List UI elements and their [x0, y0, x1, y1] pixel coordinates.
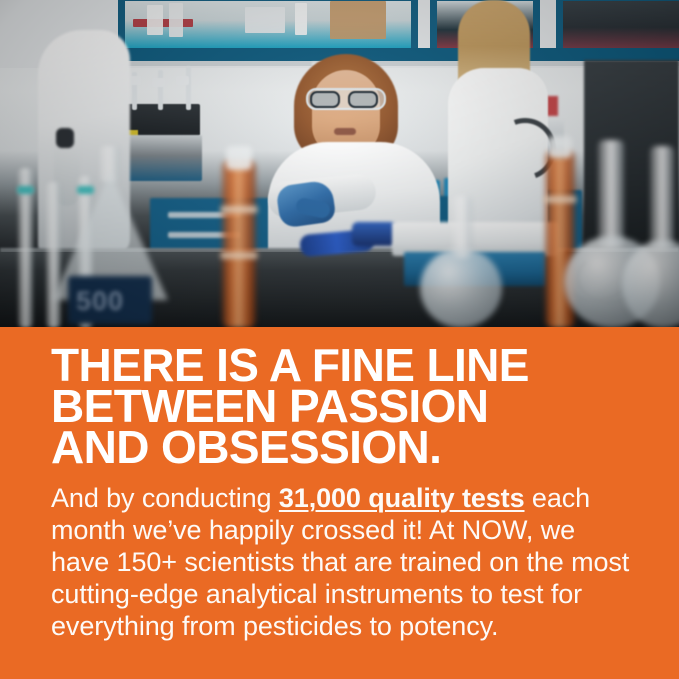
- center-scientist-mouth: [334, 128, 356, 135]
- shelf-item: [133, 19, 193, 27]
- quality-tests-stat: 31,000 quality tests: [279, 483, 525, 513]
- body-copy: And by conducting 31,000 quality tests e…: [51, 482, 637, 642]
- shelf-bottle: [147, 5, 163, 35]
- page-title: THERE IS A FINE LINE BETWEEN PASSION AND…: [51, 345, 641, 468]
- pipette-band: [17, 186, 34, 194]
- shelf-bottle: [169, 3, 183, 37]
- left-scientist-hand: [56, 128, 74, 148]
- test-tube: [186, 66, 191, 110]
- volumetric-flask-neck: [598, 140, 624, 248]
- goggle-lens-left: [310, 91, 340, 108]
- tube-cap: [152, 78, 165, 87]
- cabinet-glass: [125, 1, 411, 49]
- shelf-box: [330, 1, 386, 39]
- flask-volume-text: 500: [76, 288, 140, 314]
- promo-card: 500 THERE IS A FINE LINE BETWEEN PASSION…: [0, 0, 679, 679]
- lab-photo: 500: [0, 0, 679, 327]
- blue-sample-flask: [352, 222, 396, 246]
- volumetric-flask-neck: [650, 146, 674, 250]
- shelf-bottle: [295, 3, 307, 35]
- volumetric-flask-bulb: [420, 248, 502, 327]
- column-cap: [226, 146, 252, 170]
- column-ring: [220, 252, 258, 259]
- amber-liquid-column: [222, 160, 256, 327]
- column-ring: [220, 206, 258, 213]
- cabinet-glass: [563, 1, 679, 49]
- shelf-bottle: [245, 7, 285, 33]
- test-tube: [158, 70, 163, 110]
- column-ring: [543, 196, 577, 203]
- tube-cap: [176, 76, 189, 85]
- goggle-lens-right: [348, 91, 378, 108]
- body-copy-before: And by conducting: [51, 483, 279, 513]
- column-cap: [548, 136, 572, 158]
